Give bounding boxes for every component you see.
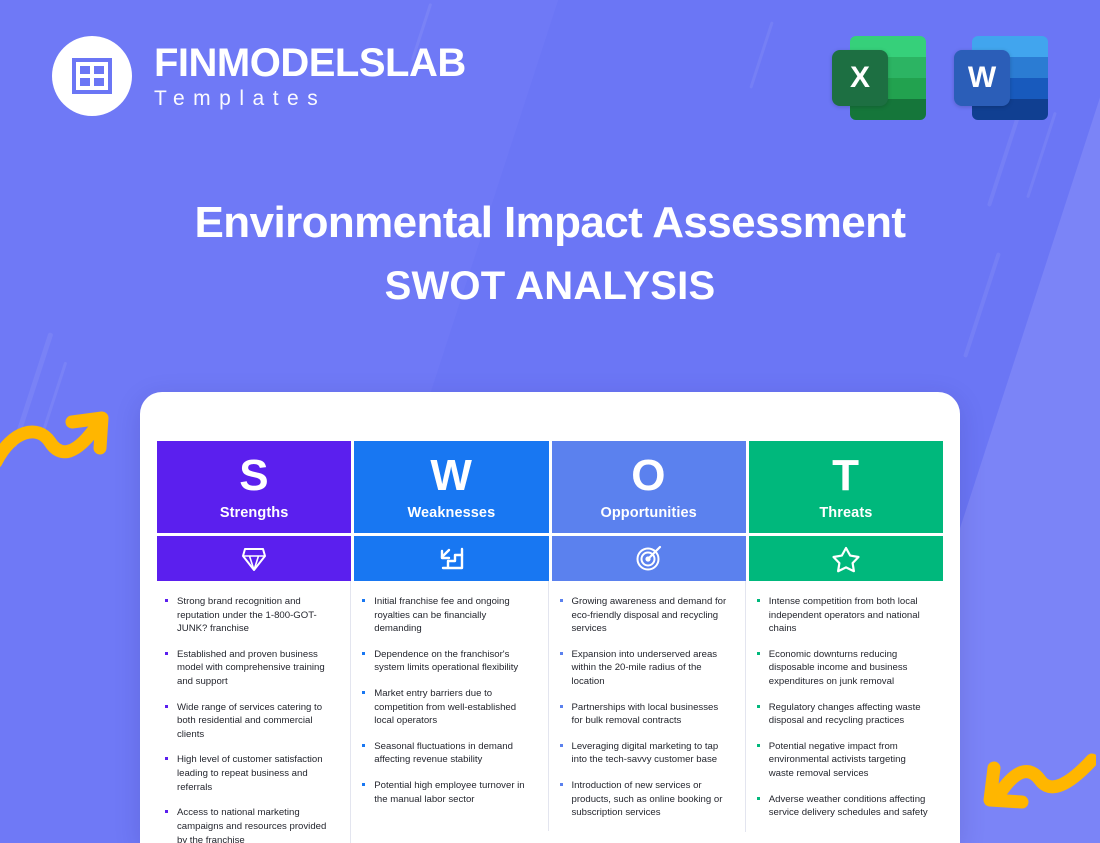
column-label: Strengths [220,505,289,521]
brand-logo[interactable]: FINMODELSLAB Templates [52,36,466,116]
bullet-list: Strong brand recognition and reputation … [161,595,336,843]
list-item: Economic downturns reducing disposable i… [753,648,929,689]
list-item: Leveraging digital marketing to tap into… [556,740,731,767]
logo-circle [52,36,132,116]
page-subtitle: SWOT ANALYSIS [0,264,1100,309]
target-bullseye-icon [552,536,746,581]
column-letter: S [239,454,269,498]
brand-name: FINMODELSLAB [154,42,466,84]
list-item: Established and proven business model wi… [161,648,336,689]
word-icon[interactable]: W [954,28,1048,120]
column-header-threats: T Threats [749,441,943,533]
list-item: Potential high employee turnover in the … [358,779,533,806]
column-body-threats: Intense competition from both local inde… [749,581,943,832]
grid-window-icon [72,58,112,94]
page-header: FINMODELSLAB Templates X W [0,0,1100,145]
list-item: Wide range of services catering to both … [161,701,336,742]
swot-column-threats: T Threats Intense competition from both … [749,441,943,843]
bullet-list: Intense competition from both local inde… [753,595,929,820]
column-letter: W [430,454,472,498]
list-item: Growing awareness and demand for eco-fri… [556,595,731,636]
swot-table: S Strengths Strong brand recognition and… [157,441,943,843]
column-label: Weaknesses [407,505,495,521]
page-title: Environmental Impact Assessment [0,196,1100,250]
star-icon [749,536,943,581]
column-header-weaknesses: W Weaknesses [354,441,548,533]
column-label: Opportunities [600,505,696,521]
list-item: Partnerships with local businesses for b… [556,701,731,728]
list-item: Initial franchise fee and ongoing royalt… [358,595,533,636]
swot-column-weaknesses: W Weaknesses Initial franchise fee and o… [354,441,548,843]
word-letter: W [954,50,1010,106]
list-item: Potential negative impact from environme… [753,740,929,781]
list-item: Dependence on the franchisor's system li… [358,648,533,675]
squiggly-arrow-down-left-icon [964,752,1096,830]
list-item: Strong brand recognition and reputation … [161,595,336,636]
excel-letter: X [832,50,888,106]
diamond-gem-icon [157,536,351,581]
format-icons: X W [832,28,1048,120]
list-item: Introduction of new services or products… [556,779,731,820]
bullet-list: Initial franchise fee and ongoing royalt… [358,595,533,806]
column-letter: T [832,454,859,498]
excel-icon[interactable]: X [832,28,926,120]
column-letter: O [631,454,666,498]
swot-column-strengths: S Strengths Strong brand recognition and… [157,441,351,843]
bullet-list: Growing awareness and demand for eco-fri… [556,595,731,820]
column-body-opportunities: Growing awareness and demand for eco-fri… [552,581,746,832]
column-body-strengths: Strong brand recognition and reputation … [157,581,351,843]
list-item: Access to national marketing campaigns a… [161,806,336,843]
list-item: Seasonal fluctuations in demand affectin… [358,740,533,767]
list-item: Intense competition from both local inde… [753,595,929,636]
list-item: Expansion into underserved areas within … [556,648,731,689]
descending-stairs-icon [354,536,548,581]
column-header-opportunities: O Opportunities [552,441,746,533]
brand-tagline: Templates [154,87,466,111]
list-item: Regulatory changes affecting waste dispo… [753,701,929,728]
list-item: Adverse weather conditions affecting ser… [753,793,929,820]
title-block: Environmental Impact Assessment SWOT ANA… [0,196,1100,309]
column-header-strengths: S Strengths [157,441,351,533]
swot-card: S Strengths Strong brand recognition and… [140,392,960,843]
column-body-weaknesses: Initial franchise fee and ongoing royalt… [354,581,548,831]
list-item: Market entry barriers due to competition… [358,687,533,728]
list-item: High level of customer satisfaction lead… [161,753,336,794]
squiggly-arrow-up-right-icon [0,400,122,472]
swot-column-opportunities: O Opportunities Growing awareness and de… [552,441,746,843]
column-label: Threats [819,505,872,521]
